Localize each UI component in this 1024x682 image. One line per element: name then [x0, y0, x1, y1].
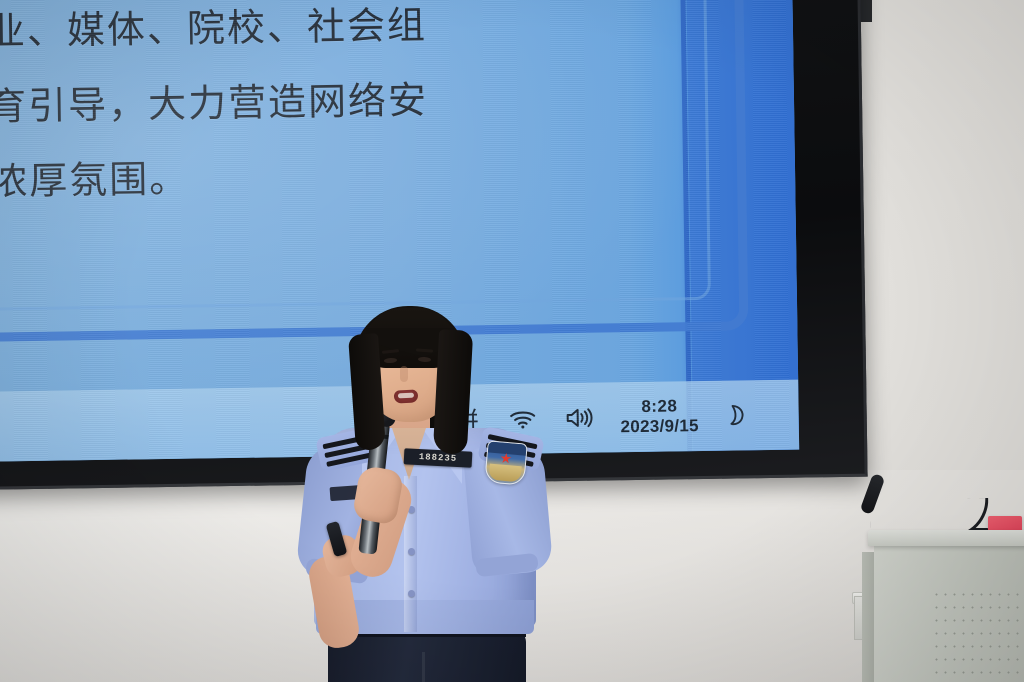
mouth [394, 389, 419, 403]
podium-top-surface [868, 530, 1024, 546]
slide-body-text: 企业、媒体、院校、社会组 教育引导，大力营造网络安 的浓厚氛围。 [0, 0, 670, 222]
photo-scene: 企业、媒体、院校、社会组 教育引导，大力营造网络安 的浓厚氛围。 ^ 英 拼 [0, 0, 1024, 682]
hair-side-right [433, 329, 473, 455]
trouser-seam [422, 652, 425, 682]
clock-date: 2023/9/15 [620, 416, 699, 437]
slide-text-line-2: 教育引导，大力营造网络安 [0, 61, 669, 147]
police-emblem-badge [484, 440, 528, 485]
nose [400, 366, 408, 382]
shirt-button [408, 548, 415, 555]
slide-text-line-3: 的浓厚氛围。 [0, 136, 670, 222]
slide-text-line-1: 企业、媒体、院校、社会组 [0, 0, 667, 71]
podium-body [874, 544, 1024, 682]
podium [862, 530, 1024, 682]
podium-perforated-panel [932, 588, 1024, 682]
shirt-button [408, 590, 415, 597]
trousers [328, 630, 526, 682]
presenter: 188235 [300, 300, 560, 682]
taskbar-clock[interactable]: 8:28 2023/9/15 [606, 389, 709, 445]
clock-time: 8:28 [641, 396, 677, 417]
moon-icon[interactable] [708, 388, 759, 443]
